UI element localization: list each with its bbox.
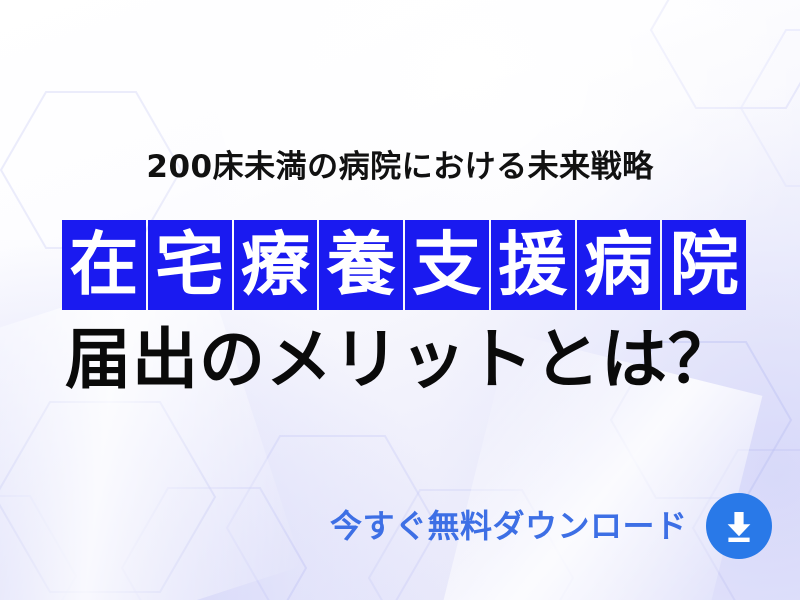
title-char-cell: 院 (662, 220, 746, 310)
download-cta[interactable]: 今すぐ無料ダウンロード (330, 487, 766, 565)
title-char-cell: 援 (491, 220, 575, 310)
title-char-cell: 療 (234, 220, 318, 310)
slide-content: 200床未満の病院における未来戦略 在 宅 療 養 支 援 病 院 届出のメリッ… (0, 0, 800, 600)
highlighted-title: 在 宅 療 養 支 援 病 院 (62, 220, 746, 310)
title-char-cell: 宅 (148, 220, 232, 310)
title-char-cell: 支 (405, 220, 489, 310)
download-cta-label: 今すぐ無料ダウンロード (330, 510, 688, 542)
promo-slide: 200床未満の病院における未来戦略 在 宅 療 養 支 援 病 院 届出のメリッ… (0, 0, 800, 600)
download-circle-icon[interactable] (706, 493, 772, 559)
subtitle-text: 200床未満の病院における未来戦略 (0, 152, 800, 183)
title-char-cell: 在 (62, 220, 146, 310)
title-char-cell: 養 (319, 220, 403, 310)
title-char-cell: 病 (577, 220, 661, 310)
title-second-line: 届出のメリットとは？ (0, 325, 800, 394)
